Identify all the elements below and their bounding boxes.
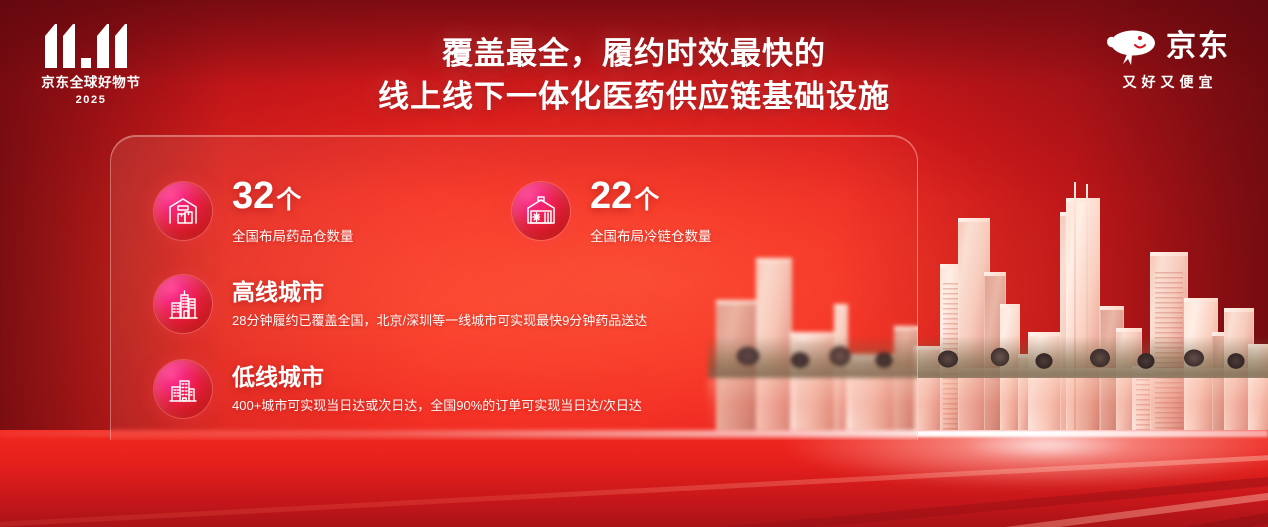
- perspective-floor: [0, 430, 1268, 527]
- stat-item-drug-warehouse: 32个 全国布局药品仓数量: [154, 176, 354, 246]
- headline: 覆盖最全，履约时效最快的 线上线下一体化医药供应链基础设施: [0, 32, 1268, 118]
- stat-description: 400+城市可实现当日达或次日达，全国90%的订单可实现当日达/次日达: [232, 396, 642, 415]
- stat-title: 高线城市: [232, 279, 647, 306]
- stat-value: 22个: [590, 176, 712, 220]
- eleven-eleven-icon: [43, 24, 139, 68]
- stat-item-low-tier-city: 低线城市 400+城市可实现当日达或次日达，全国90%的订单可实现当日达/次日达: [154, 360, 642, 418]
- jd-logo: 京东 又好又便宜: [1106, 28, 1230, 92]
- stat-label: 全国布局冷链仓数量: [590, 227, 712, 246]
- jd-brand-name: 京东: [1166, 30, 1230, 64]
- stat-description: 28分钟履约已覆盖全国，北京/深圳等一线城市可实现最快9分钟药品送达: [232, 311, 647, 330]
- promo-banner: 京东全球好物节 2025 覆盖最全，履约时效最快的 线上线下一体化医药供应链基础…: [0, 0, 1268, 527]
- high-rise-city-icon: [154, 275, 212, 333]
- stat-value: 32个: [232, 176, 354, 220]
- headline-line-2: 线上线下一体化医药供应链基础设施: [0, 75, 1268, 118]
- joy-dog-icon: [1106, 28, 1158, 66]
- low-rise-city-icon: [154, 360, 212, 418]
- stat-item-cold-chain-warehouse: 22个 全国布局冷链仓数量: [512, 176, 712, 246]
- stat-title: 低线城市: [232, 364, 642, 391]
- campaign-name: 京东全球好物节: [31, 71, 151, 91]
- warehouse-icon: [154, 182, 212, 240]
- stat-item-high-tier-city: 高线城市 28分钟履约已覆盖全国，北京/深圳等一线城市可实现最快9分钟药品送达: [154, 275, 647, 333]
- jd-slogan: 又好又便宜: [1106, 72, 1230, 92]
- campaign-year: 2025: [31, 94, 151, 106]
- cold-chain-warehouse-icon: [512, 182, 570, 240]
- stat-label: 全国布局药品仓数量: [232, 227, 354, 246]
- stats-container: 32个 全国布局药品仓数量 22个 全国布局冷链仓数量: [110, 135, 918, 440]
- campaign-logo: 京东全球好物节 2025: [31, 24, 151, 106]
- headline-line-1: 覆盖最全，履约时效最快的: [0, 32, 1268, 75]
